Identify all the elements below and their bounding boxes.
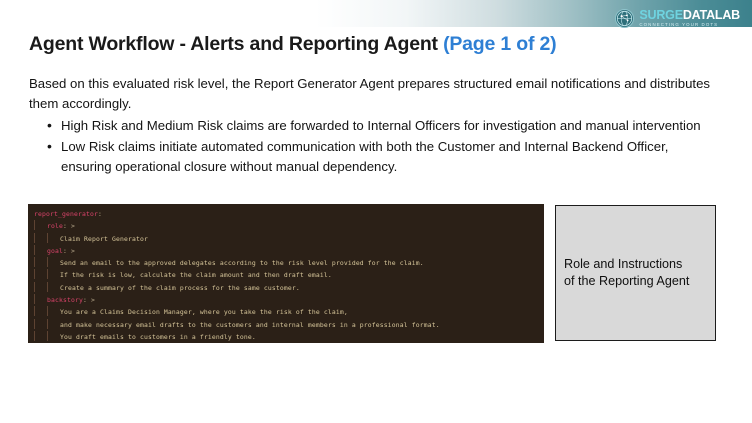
list-item: High Risk and Medium Risk claims are for… — [51, 116, 721, 135]
indent-guide — [34, 220, 47, 230]
logo-wordmark: SURGEDATALAB — [639, 9, 740, 22]
code-token-string: Send an email to the approved delegates … — [60, 259, 424, 267]
code-token-key: goal — [47, 247, 63, 255]
logo-brand-secondary: DATALAB — [683, 8, 740, 22]
code-line: report_generator: — [34, 209, 544, 220]
code-line: goal: > — [34, 245, 544, 257]
code-token-string: and make necessary email drafts to the c… — [60, 321, 440, 329]
code-token-string: You draft emails to customers in a frien… — [60, 333, 256, 341]
callout-line-2: of the Reporting Agent — [564, 273, 689, 290]
code-line: role: > — [34, 220, 544, 232]
code-token-string: You are a Claims Decision Manager, where… — [60, 308, 348, 316]
indent-guide — [34, 331, 47, 341]
code-line: You are a Claims Decision Manager, where… — [34, 306, 544, 318]
indent-guide — [34, 257, 47, 267]
indent-guide — [47, 282, 60, 292]
indent-guide — [47, 319, 60, 329]
indent-guide — [47, 331, 60, 341]
indent-guide — [34, 245, 47, 255]
code-line: backstory: > — [34, 294, 544, 306]
indent-guide — [47, 257, 60, 267]
page-title-main: Agent Workflow - Alerts and Reporting Ag… — [29, 33, 438, 55]
logo-brand-primary: SURGE — [639, 8, 682, 22]
indent-guide — [34, 269, 47, 279]
callout-box-role-instructions: Role and Instructions of the Reporting A… — [555, 205, 716, 341]
page-title-page-ref: (Page 1 of 2) — [443, 33, 556, 55]
code-line: and make necessary email drafts to the c… — [34, 319, 544, 331]
code-line: Send an email to the approved delegates … — [34, 257, 544, 269]
code-token-fold: > — [87, 296, 95, 304]
callout-line-1: Role and Instructions — [564, 256, 689, 273]
indent-guide — [34, 294, 47, 304]
code-line: Create a summary of the claim process fo… — [34, 282, 544, 294]
callout-box-text: Role and Instructions of the Reporting A… — [564, 256, 689, 289]
indent-guide — [34, 306, 47, 316]
indent-guide — [47, 269, 60, 279]
indent-guide — [34, 282, 47, 292]
brand-logo: SURGEDATALAB CONNECTING YOUR DOTS — [615, 8, 740, 28]
globe-network-icon — [615, 9, 634, 28]
list-item: Low Risk claims initiate automated commu… — [51, 137, 721, 176]
code-token-key: backstory — [47, 296, 83, 304]
indent-guide — [47, 233, 60, 243]
code-token-fold: > — [67, 222, 75, 230]
code-line: Claim Report Generator — [34, 233, 544, 245]
page-title: Agent Workflow - Alerts and Reporting Ag… — [29, 33, 556, 56]
indent-guide — [34, 319, 47, 329]
intro-paragraph: Based on this evaluated risk level, the … — [29, 74, 723, 113]
indent-guide — [34, 233, 47, 243]
code-token-key: report_generator — [34, 210, 98, 218]
code-token-string: If the risk is low, calculate the claim … — [60, 271, 332, 279]
logo-tagline: CONNECTING YOUR DOTS — [639, 23, 740, 27]
code-token-punct: : — [98, 210, 102, 218]
code-line: You draft emails to customers in a frien… — [34, 331, 544, 343]
code-token-fold: > — [67, 247, 75, 255]
yaml-code-block: report_generator:role: >Claim Report Gen… — [28, 204, 544, 343]
body-content: Based on this evaluated risk level, the … — [29, 74, 729, 176]
code-token-string: Create a summary of the claim process fo… — [60, 284, 300, 292]
code-line: If the risk is low, calculate the claim … — [34, 269, 544, 281]
bullet-list: High Risk and Medium Risk claims are for… — [29, 116, 729, 176]
indent-guide — [47, 306, 60, 316]
code-token-string: Claim Report Generator — [60, 235, 148, 243]
code-token-key: role — [47, 222, 63, 230]
